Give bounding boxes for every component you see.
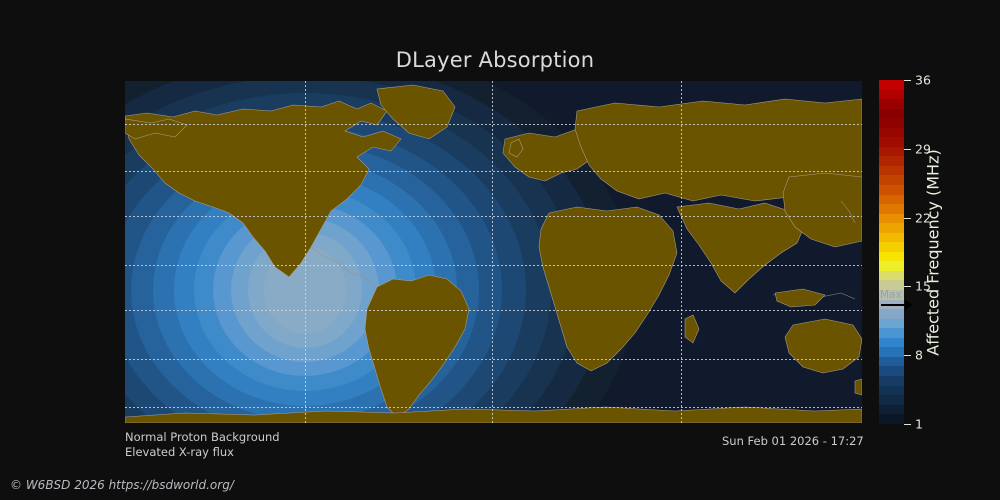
colorbar-tick-mark bbox=[904, 355, 911, 356]
colorbar-band bbox=[879, 175, 904, 185]
colorbar-band bbox=[879, 147, 904, 157]
colorbar-axis-label: Affected Frequency (MHz) bbox=[915, 80, 951, 424]
colorbar-band bbox=[879, 233, 904, 243]
colorbar-band bbox=[879, 128, 904, 138]
max-annotation: Max bbox=[879, 292, 939, 318]
colorbar-band bbox=[879, 90, 904, 100]
colorbar-band bbox=[879, 376, 904, 386]
colorbar-band bbox=[879, 166, 904, 176]
timestamp: Sun Feb 01 2026 - 17:27 bbox=[722, 434, 864, 448]
colorbar-band bbox=[879, 261, 904, 271]
colorbar-tick-mark bbox=[904, 80, 911, 81]
colorbar-band bbox=[879, 80, 904, 90]
map-canvas bbox=[125, 81, 862, 423]
colorbar-tick-mark bbox=[904, 424, 911, 425]
colorbar-band bbox=[879, 252, 904, 262]
proton-background-note: Normal Proton Background bbox=[125, 430, 280, 444]
copyright-footer: © W6BSD 2026 https://bsdworld.org/ bbox=[10, 478, 234, 492]
colorbar-band bbox=[879, 386, 904, 396]
colorbar-band bbox=[879, 137, 904, 147]
colorbar-band bbox=[879, 204, 904, 214]
colorbar-band bbox=[879, 405, 904, 415]
colorbar-band bbox=[879, 185, 904, 195]
colorbar bbox=[879, 80, 904, 424]
colorbar-band bbox=[879, 338, 904, 348]
colorbar-tick-mark bbox=[904, 149, 911, 150]
max-arrow-head-icon bbox=[905, 300, 913, 310]
colorbar-band bbox=[879, 223, 904, 233]
max-arrow-shaft bbox=[881, 304, 907, 306]
colorbar-axis-label-text: Affected Frequency (MHz) bbox=[924, 149, 943, 355]
colorbar-band bbox=[879, 366, 904, 376]
colorbar-band bbox=[879, 395, 904, 405]
colorbar-band bbox=[879, 357, 904, 367]
colorbar-band bbox=[879, 214, 904, 224]
colorbar-band bbox=[879, 156, 904, 166]
colorbar-band bbox=[879, 195, 904, 205]
page-title: DLayer Absorption bbox=[0, 48, 990, 72]
max-annotation-label: Max bbox=[880, 289, 902, 301]
world-map-panel bbox=[125, 81, 862, 423]
colorbar-band bbox=[879, 99, 904, 109]
colorbar-band bbox=[879, 347, 904, 357]
colorbar-band bbox=[879, 328, 904, 338]
colorbar-band bbox=[879, 271, 904, 281]
colorbar-tick-mark bbox=[904, 218, 911, 219]
dlayer-absorption-figure: DLayer Absorption bbox=[0, 0, 1000, 500]
colorbar-tick-mark bbox=[904, 286, 911, 287]
colorbar-band bbox=[879, 109, 904, 119]
colorbar-band bbox=[879, 319, 904, 329]
colorbar-band bbox=[879, 118, 904, 128]
xray-flux-note: Elevated X-ray flux bbox=[125, 445, 234, 459]
colorbar-band bbox=[879, 242, 904, 252]
colorbar-band bbox=[879, 414, 904, 424]
